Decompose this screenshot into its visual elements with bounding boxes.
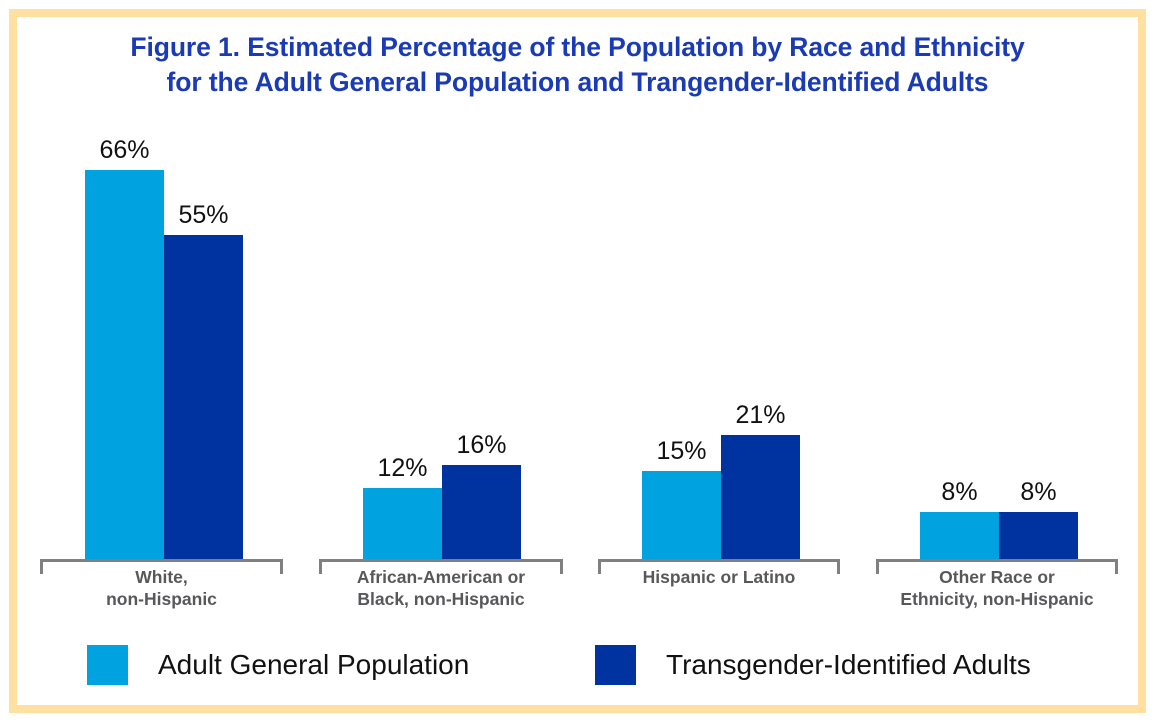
bar-transgender-1 bbox=[164, 235, 243, 560]
bar-transgender-2 bbox=[442, 465, 521, 559]
category-label-4: Other Race orEthnicity, non-Hispanic bbox=[876, 566, 1118, 610]
legend-label: Adult General Population bbox=[158, 650, 469, 680]
bar-value-label: 21% bbox=[703, 403, 818, 428]
legend-swatch-icon bbox=[595, 645, 636, 685]
category-label-line: Black, non-Hispanic bbox=[319, 588, 563, 610]
figure-container: Figure 1. Estimated Percentage of the Po… bbox=[0, 0, 1155, 722]
bar-value-label: 8% bbox=[981, 480, 1096, 505]
legend-item-general-population[interactable]: Adult General Population bbox=[87, 643, 469, 687]
bar-general-4 bbox=[920, 512, 999, 559]
category-label-2: African-American orBlack, non-Hispanic bbox=[319, 566, 563, 610]
plot-area: 66%55%White,non-Hispanic12%16%African-Am… bbox=[0, 0, 1155, 722]
legend-swatch-icon bbox=[87, 645, 128, 685]
bar-general-1 bbox=[85, 170, 164, 559]
bar-transgender-3 bbox=[721, 435, 800, 559]
bar-value-label: 16% bbox=[424, 433, 539, 458]
chart-legend: Adult General PopulationTransgender-Iden… bbox=[0, 643, 1155, 693]
bar-value-label: 66% bbox=[67, 138, 182, 163]
bar-general-2 bbox=[363, 488, 442, 559]
category-label-line: Hispanic or Latino bbox=[598, 566, 840, 588]
category-label-line: Other Race or bbox=[876, 566, 1118, 588]
legend-label: Transgender-Identified Adults bbox=[666, 650, 1031, 680]
category-label-line: White, bbox=[40, 566, 283, 588]
category-label-line: African-American or bbox=[319, 566, 563, 588]
bar-transgender-4 bbox=[999, 512, 1078, 559]
bar-value-label: 55% bbox=[146, 203, 261, 228]
category-label-1: White,non-Hispanic bbox=[40, 566, 283, 610]
bar-general-3 bbox=[642, 471, 721, 560]
category-label-line: non-Hispanic bbox=[40, 588, 283, 610]
category-label-3: Hispanic or Latino bbox=[598, 566, 840, 588]
legend-item-transgender-adults[interactable]: Transgender-Identified Adults bbox=[595, 643, 1031, 687]
category-label-line: Ethnicity, non-Hispanic bbox=[876, 588, 1118, 610]
